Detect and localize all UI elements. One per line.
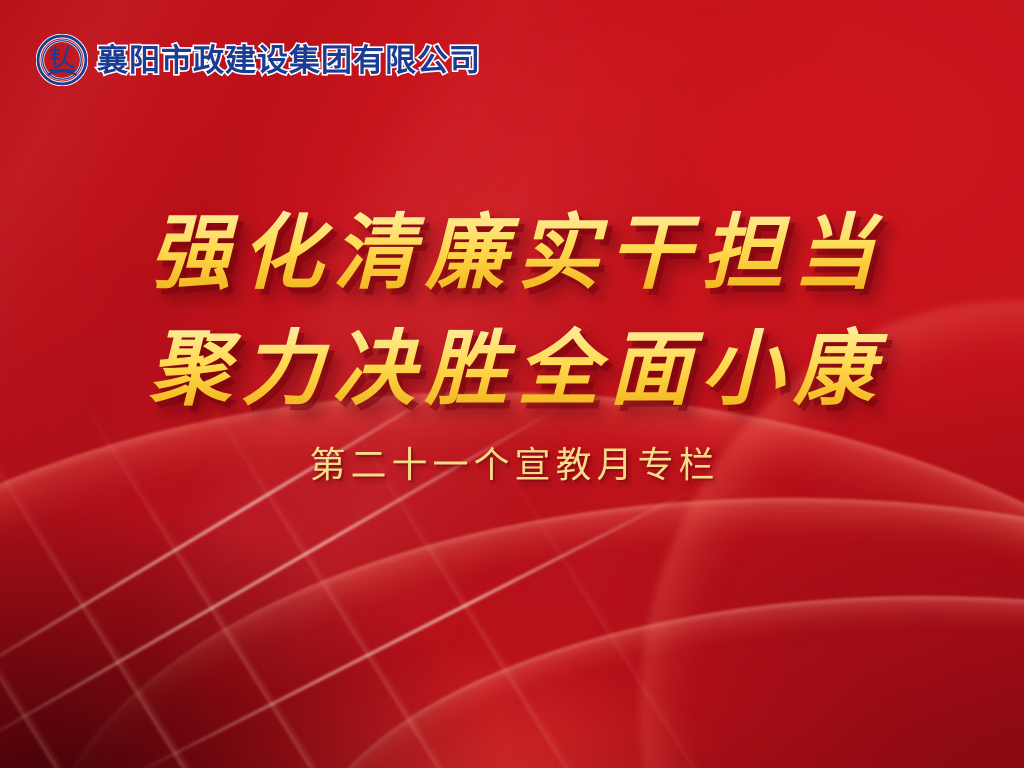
company-logo-icon[interactable]	[36, 34, 88, 86]
title-block: 强化清廉实干担当 聚力决胜全面小康 第二十一个宣教月专栏	[0, 196, 1024, 488]
company-name-text: 襄阳市政建设集团有限公司	[97, 45, 481, 76]
title-line-2: 聚力决胜全面小康	[0, 312, 1024, 428]
poster-canvas: 襄阳市政建设集团有限公司 强化清廉实干担当 聚力决胜全面小康 第二十一个宣教月专…	[0, 0, 1024, 768]
logo-header[interactable]: 襄阳市政建设集团有限公司	[36, 34, 481, 86]
title-line-1: 强化清廉实干担当	[0, 196, 1024, 312]
subtitle-text: 第二十一个宣教月专栏	[0, 442, 1024, 488]
